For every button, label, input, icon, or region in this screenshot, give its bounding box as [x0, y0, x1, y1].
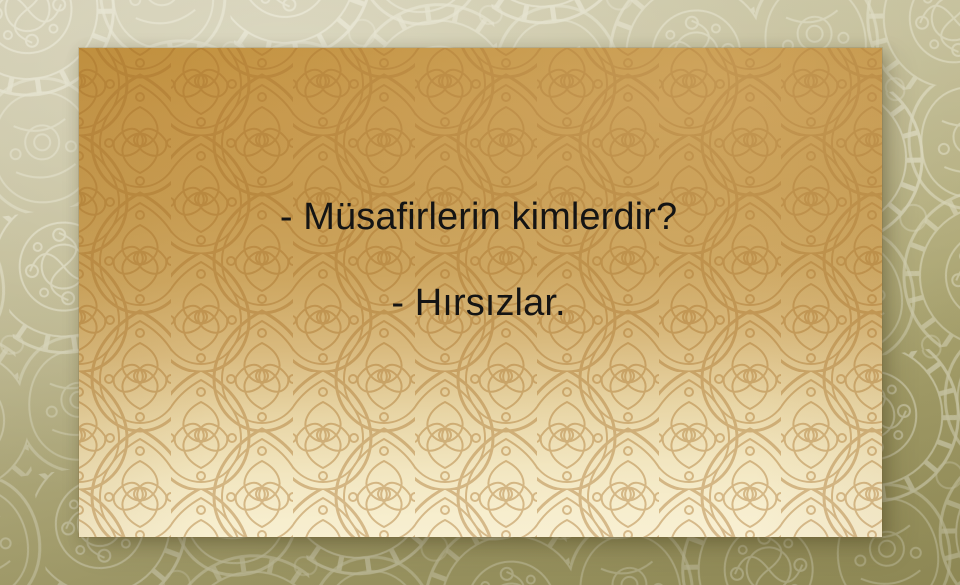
slide-card: - Müsafirlerin kimlerdir? - Hırsızlar. [79, 48, 882, 537]
slide-line-2: - Hırsızlar. [79, 284, 882, 322]
slide-text-block: - Müsafirlerin kimlerdir? - Hırsızlar. [79, 198, 882, 322]
slide-canvas: - Müsafirlerin kimlerdir? - Hırsızlar. [0, 0, 960, 585]
slide-line-1: - Müsafirlerin kimlerdir? [79, 198, 882, 236]
